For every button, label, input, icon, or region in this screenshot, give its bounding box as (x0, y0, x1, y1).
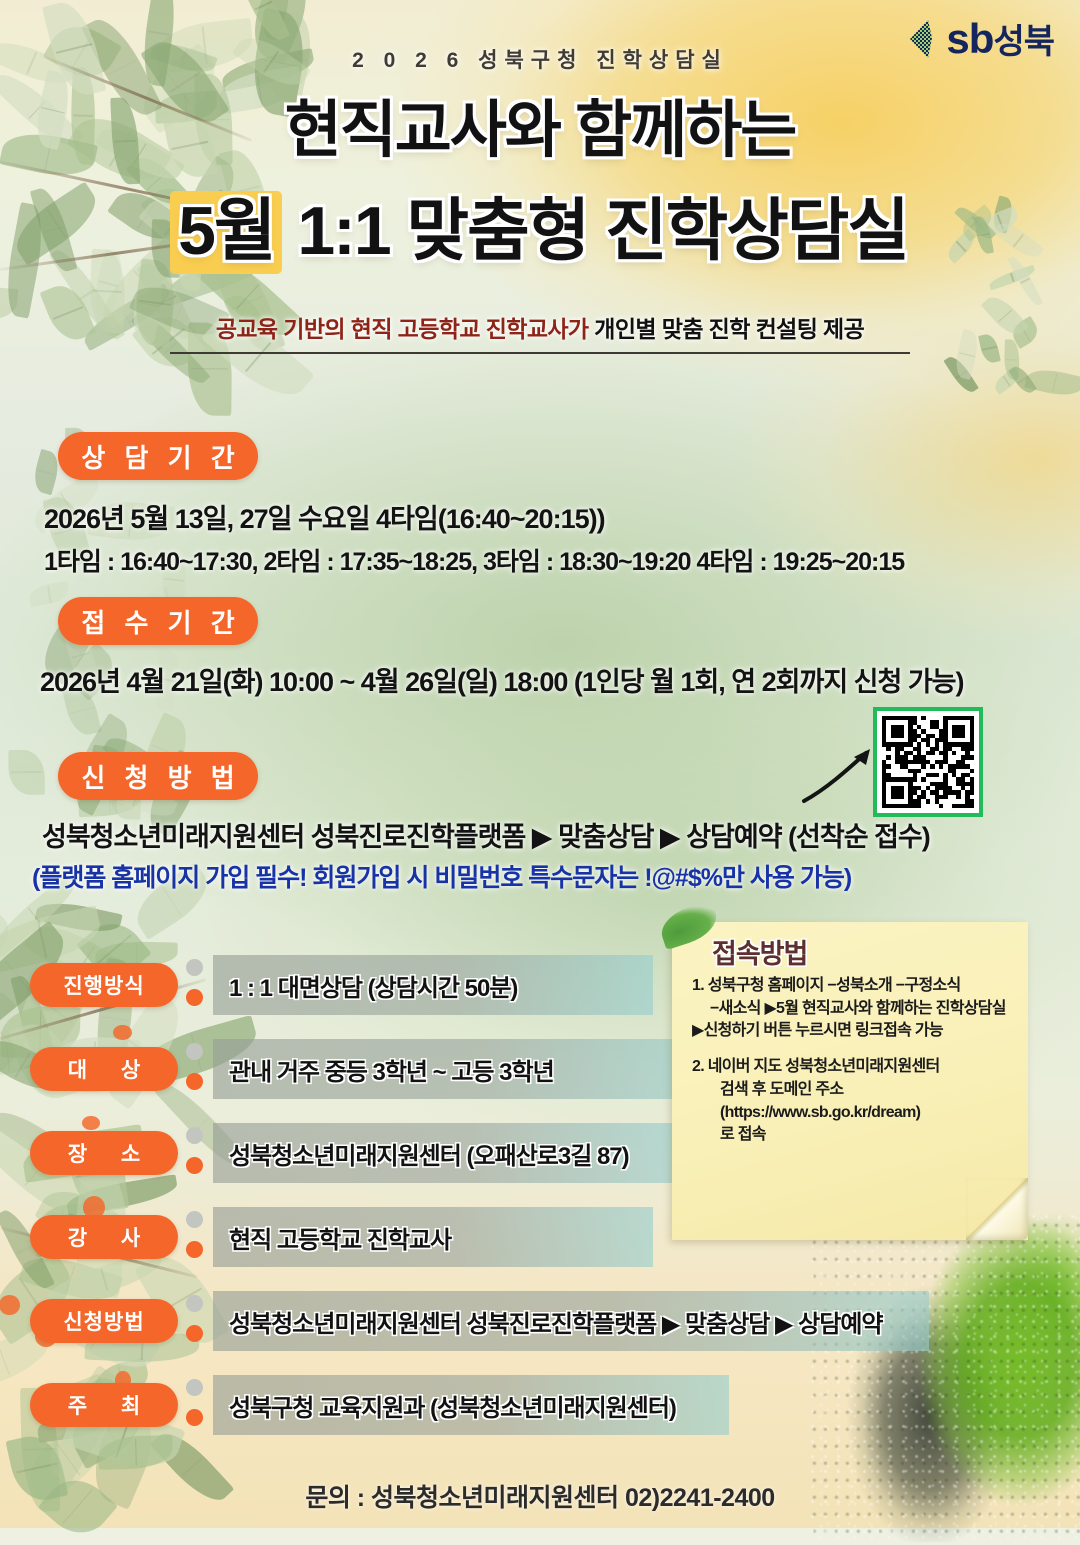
bullet-dot-orange-icon (186, 1073, 203, 1090)
row-value-box: 성북구청 교육지원과 (성북청소년미래지원센터) (213, 1375, 729, 1435)
row-label-badge: 대 상 (30, 1047, 178, 1091)
sticky-note-line: (https://www.sb.go.kr/dream) (672, 1102, 1028, 1125)
badge-consult-period: 상 담 기 간 (58, 432, 258, 480)
bullet-dot-gray-icon (186, 959, 203, 976)
tagline-emphasis: 공교육 기반의 현직 고등학교 진학교사가 (216, 316, 589, 342)
bullet-dot-orange-icon (186, 1409, 203, 1426)
row-value-text: 성북청소년미래지원센터 성북진로진학플랫폼 ▶ 맞춤상담 ▶ 상담예약 (229, 1304, 883, 1339)
qr-code[interactable] (873, 707, 983, 817)
how-to-apply-note: (플랫폼 홈페이지 가입 필수! 회원가입 시 비밀번호 특수문자는 !@#$%… (32, 858, 851, 894)
sticky-note-curl (966, 1178, 1028, 1240)
how-to-apply-line1: 성북청소년미래지원센터 성북진로진학플랫폼 ▶ 맞춤상담 ▶ 상담예약 (선착순… (42, 815, 930, 854)
table-row: 주 최성북구청 교육지원과 (성북청소년미래지원센터) (0, 1375, 1080, 1459)
bullet-dot-gray-icon (186, 1295, 203, 1312)
tagline-rest: 개인별 맞춤 진학 컨설팅 제공 (589, 316, 865, 342)
row-value-box: 성북청소년미래지원센터 성북진로진학플랫폼 ▶ 맞춤상담 ▶ 상담예약 (213, 1291, 929, 1351)
row-value-box: 1 : 1 대면상담 (상담시간 50분) (213, 955, 653, 1015)
consult-period-line1: 2026년 5월 13일, 27일 수요일 4타임(16:40~20:15)) (44, 497, 605, 536)
row-value-text: 현직 고등학교 진학교사 (229, 1220, 451, 1255)
row-value-box: 현직 고등학교 진학교사 (213, 1207, 653, 1267)
bullet-dot-orange-icon (186, 989, 203, 1006)
title-line2-rest: 1:1 맞춤형 진학상담실 (297, 193, 908, 269)
seongbuk-logo: sb성북 (908, 18, 1054, 60)
row-value-box: 성북청소년미래지원센터 (오패산로3길 87) (213, 1123, 681, 1183)
row-value-text: 성북구청 교육지원과 (성북청소년미래지원센터) (229, 1388, 676, 1423)
arrow-to-qr-icon (800, 745, 880, 805)
bullet-dot-orange-icon (186, 1325, 203, 1342)
tagline: 공교육 기반의 현직 고등학교 진학교사가 개인별 맞춤 진학 컨설팅 제공 (0, 310, 1080, 344)
sticky-note-line: 검색 후 도메인 주소 (672, 1079, 1028, 1102)
sticky-note-lines: 1. 성북구청 홈페이지 −성북소개 −구정소식−새소식 ▶5월 현직교사와 함… (672, 975, 1028, 1147)
logo-kr-text: 성북 (993, 23, 1054, 61)
sticky-note-line: ▶신청하기 버튼 누르시면 링크접속 가능 (672, 1020, 1028, 1043)
footer-contact: 문의 : 성북청소년미래지원센터 02)2241-2400 (0, 1478, 1080, 1514)
logo-flag-icon (908, 18, 942, 60)
row-label-badge: 진행방식 (30, 963, 178, 1007)
main-title-line1: 현직교사와 함께하는 (0, 100, 1080, 162)
sticky-note-line: 로 접속 (672, 1124, 1028, 1147)
bullet-dot-gray-icon (186, 1379, 203, 1396)
sticky-note-line: 2. 네이버 지도 성북청소년미래지원센터 (672, 1056, 1028, 1079)
row-value-text: 관내 거주 중등 3학년 ~ 고등 3학년 (229, 1052, 554, 1087)
row-value-text: 1 : 1 대면상담 (상담시간 50분) (229, 968, 517, 1003)
header-divider (170, 352, 910, 354)
title-month-highlight: 5월 (172, 193, 280, 272)
row-value-text: 성북청소년미래지원센터 (오패산로3길 87) (229, 1136, 629, 1171)
access-method-sticky-note: 접속방법 1. 성북구청 홈페이지 −성북소개 −구정소식−새소식 ▶5월 현직… (672, 922, 1028, 1240)
logo-wordmark: sb성북 (946, 18, 1054, 60)
main-title-line2: 5월 1:1 맞춤형 진학상담실 (0, 197, 1080, 265)
row-label-badge: 장 소 (30, 1131, 178, 1175)
row-value-box: 관내 거주 중등 3학년 ~ 고등 3학년 (213, 1039, 701, 1099)
badge-application-period: 접 수 기 간 (58, 597, 258, 645)
consult-period-line2: 1타임 : 16:40~17:30, 2타임 : 17:35~18:25, 3타… (44, 542, 904, 578)
row-label-badge: 주 최 (30, 1383, 178, 1427)
badge-how-to-apply: 신 청 방 법 (58, 752, 258, 800)
application-period-line1: 2026년 4월 21일(화) 10:00 ~ 4월 26일(일) 18:00 … (40, 660, 964, 699)
row-label-badge: 강 사 (30, 1215, 178, 1259)
sticky-note-line: 1. 성북구청 홈페이지 −성북소개 −구정소식 (672, 975, 1028, 998)
bullet-dot-gray-icon (186, 1211, 203, 1228)
row-label-badge: 신청방법 (30, 1299, 178, 1343)
table-row: 신청방법성북청소년미래지원센터 성북진로진학플랫폼 ▶ 맞춤상담 ▶ 상담예약 (0, 1291, 1080, 1375)
sticky-note-title: 접속방법 (672, 922, 1028, 975)
logo-sb-text: sb (946, 15, 993, 62)
sticky-note-line: −새소식 ▶5월 현직교사와 함께하는 진학상담실 (672, 998, 1028, 1021)
bullet-dot-gray-icon (186, 1043, 203, 1060)
bullet-dot-orange-icon (186, 1157, 203, 1174)
bullet-dot-gray-icon (186, 1127, 203, 1144)
bullet-dot-orange-icon (186, 1241, 203, 1258)
